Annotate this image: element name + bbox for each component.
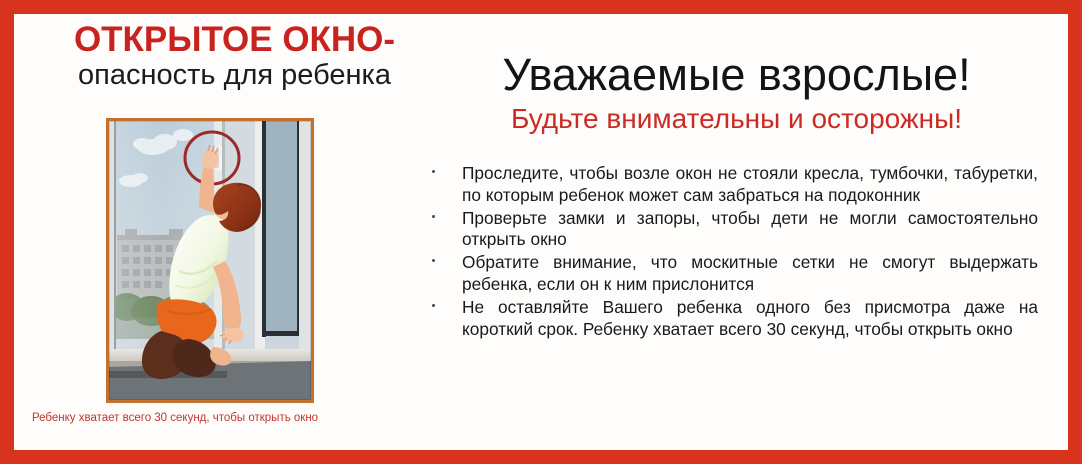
- list-item: Обратите внимание, что москитные сетки н…: [424, 252, 1038, 296]
- list-item: Не оставляйте Вашего ребенка одного без …: [424, 297, 1038, 341]
- poster-title-block: ОТКРЫТОЕ ОКНО- опасность для ребенка: [44, 22, 419, 90]
- safety-advice-list: Проследите, чтобы возле окон не стояли к…: [424, 163, 1038, 342]
- poster-content-area: ОТКРЫТОЕ ОКНО- опасность для ребенка: [14, 14, 1068, 450]
- list-item-label: Не оставляйте Вашего ребенка одного без …: [462, 297, 1038, 341]
- list-item-label: Обратите внимание, что москитные сетки н…: [462, 252, 1038, 296]
- list-item: Проверьте замки и запоры, чтобы дети не …: [424, 208, 1038, 252]
- poster-title-main: ОТКРЫТОЕ ОКНО-: [50, 22, 419, 58]
- illustration-graphic: [109, 121, 311, 400]
- heading-primary: Уважаемые взрослые!: [424, 52, 1049, 99]
- safety-poster: ОТКРЫТОЕ ОКНО- опасность для ребенка: [0, 0, 1082, 464]
- bullet-dot-icon: [432, 304, 435, 307]
- list-item-label: Проверьте замки и запоры, чтобы дети не …: [462, 208, 1038, 252]
- illustration-caption: Ребенку хватает всего 30 секунд, чтобы о…: [32, 412, 412, 426]
- list-item: Проследите, чтобы возле окон не стояли к…: [424, 163, 1038, 207]
- heading-secondary: Будьте внимательны и осторожны!: [424, 104, 1049, 135]
- right-column: Уважаемые взрослые! Будьте внимательны и…: [424, 52, 1049, 341]
- poster-title-sub: опасность для ребенка: [50, 60, 419, 90]
- child-window-illustration: [106, 118, 314, 403]
- list-item-label: Проследите, чтобы возле окон не стояли к…: [462, 163, 1038, 207]
- bullet-dot-icon: [432, 215, 435, 218]
- bullet-dot-icon: [432, 259, 435, 262]
- bullet-dot-icon: [432, 170, 435, 173]
